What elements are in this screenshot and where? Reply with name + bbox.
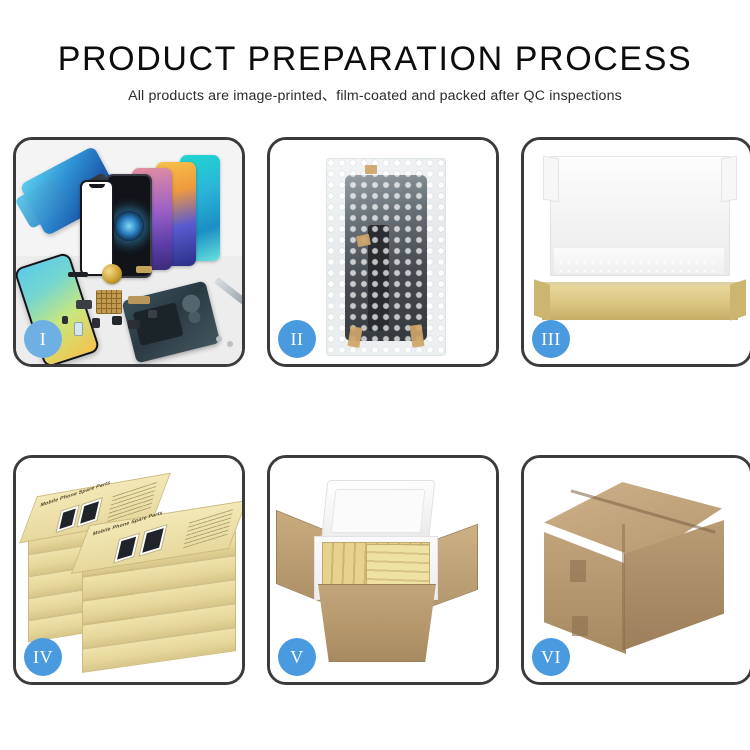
box-art-phone-icon bbox=[113, 533, 140, 564]
carton-edge-icon bbox=[622, 524, 625, 650]
small-part-icon bbox=[76, 300, 92, 309]
step-badge-4: IV bbox=[24, 638, 62, 676]
wrapped-screen-assembly-icon bbox=[345, 175, 427, 341]
phone-notch-icon bbox=[89, 184, 105, 188]
gold-connector-icon bbox=[136, 266, 152, 273]
camera-module-icon bbox=[92, 318, 100, 328]
box-spec-text-lines bbox=[183, 508, 233, 548]
yellow-boxes-row-icon bbox=[366, 544, 430, 588]
page-title: PRODUCT PREPARATION PROCESS bbox=[0, 38, 750, 80]
carton-tape-icon bbox=[570, 560, 586, 582]
sim-tray-icon bbox=[128, 320, 140, 329]
carton-body-icon bbox=[310, 584, 444, 662]
kraft-box-base-icon bbox=[542, 286, 738, 320]
tape-strip-icon bbox=[347, 326, 362, 348]
logic-board-chip-icon bbox=[96, 290, 122, 314]
speaker-module-icon bbox=[112, 316, 122, 325]
bubble-wrap-bag-icon bbox=[326, 158, 446, 356]
step-badge-2: II bbox=[278, 320, 316, 358]
micro-part-icon bbox=[62, 316, 68, 324]
process-step-grid: I II bbox=[13, 137, 737, 685]
process-step-panel-5: V bbox=[267, 455, 499, 685]
screws-icon bbox=[216, 336, 238, 348]
step-badge-6: VI bbox=[532, 638, 570, 676]
vibration-motor-icon bbox=[102, 264, 122, 284]
phone-screen-white-icon bbox=[80, 180, 114, 276]
box-art-phone-icon bbox=[55, 504, 79, 533]
process-step-panel-4: Mobile Phone Spare Parts Mobile Phone Sp… bbox=[13, 455, 245, 685]
process-step-panel-6: VI bbox=[521, 455, 750, 685]
foam-lid-icon bbox=[321, 480, 436, 544]
box-art-phone-icon bbox=[138, 524, 167, 557]
step-badge-1: I bbox=[24, 320, 62, 358]
page-subtitle: All products are image-printed、film-coat… bbox=[0, 86, 750, 106]
process-step-panel-3: III bbox=[521, 137, 750, 367]
step-badge-5: V bbox=[278, 638, 316, 676]
page-header: PRODUCT PREPARATION PROCESS All products… bbox=[0, 38, 750, 106]
sealed-carton-icon bbox=[538, 476, 740, 670]
button-part-icon bbox=[148, 310, 157, 318]
step-badge-3: III bbox=[532, 320, 570, 358]
flex-cable-icon bbox=[68, 272, 88, 277]
ribbon-cable-icon bbox=[128, 296, 150, 304]
sensor-part-icon bbox=[74, 322, 83, 336]
phone-screen-fan bbox=[74, 152, 242, 272]
process-step-panel-1: I bbox=[13, 137, 245, 367]
tape-strip-icon bbox=[365, 165, 377, 174]
process-step-panel-2: II bbox=[267, 137, 499, 367]
carton-tape-icon bbox=[572, 616, 588, 636]
product-preparation-process-page: PRODUCT PREPARATION PROCESS All products… bbox=[0, 0, 750, 750]
